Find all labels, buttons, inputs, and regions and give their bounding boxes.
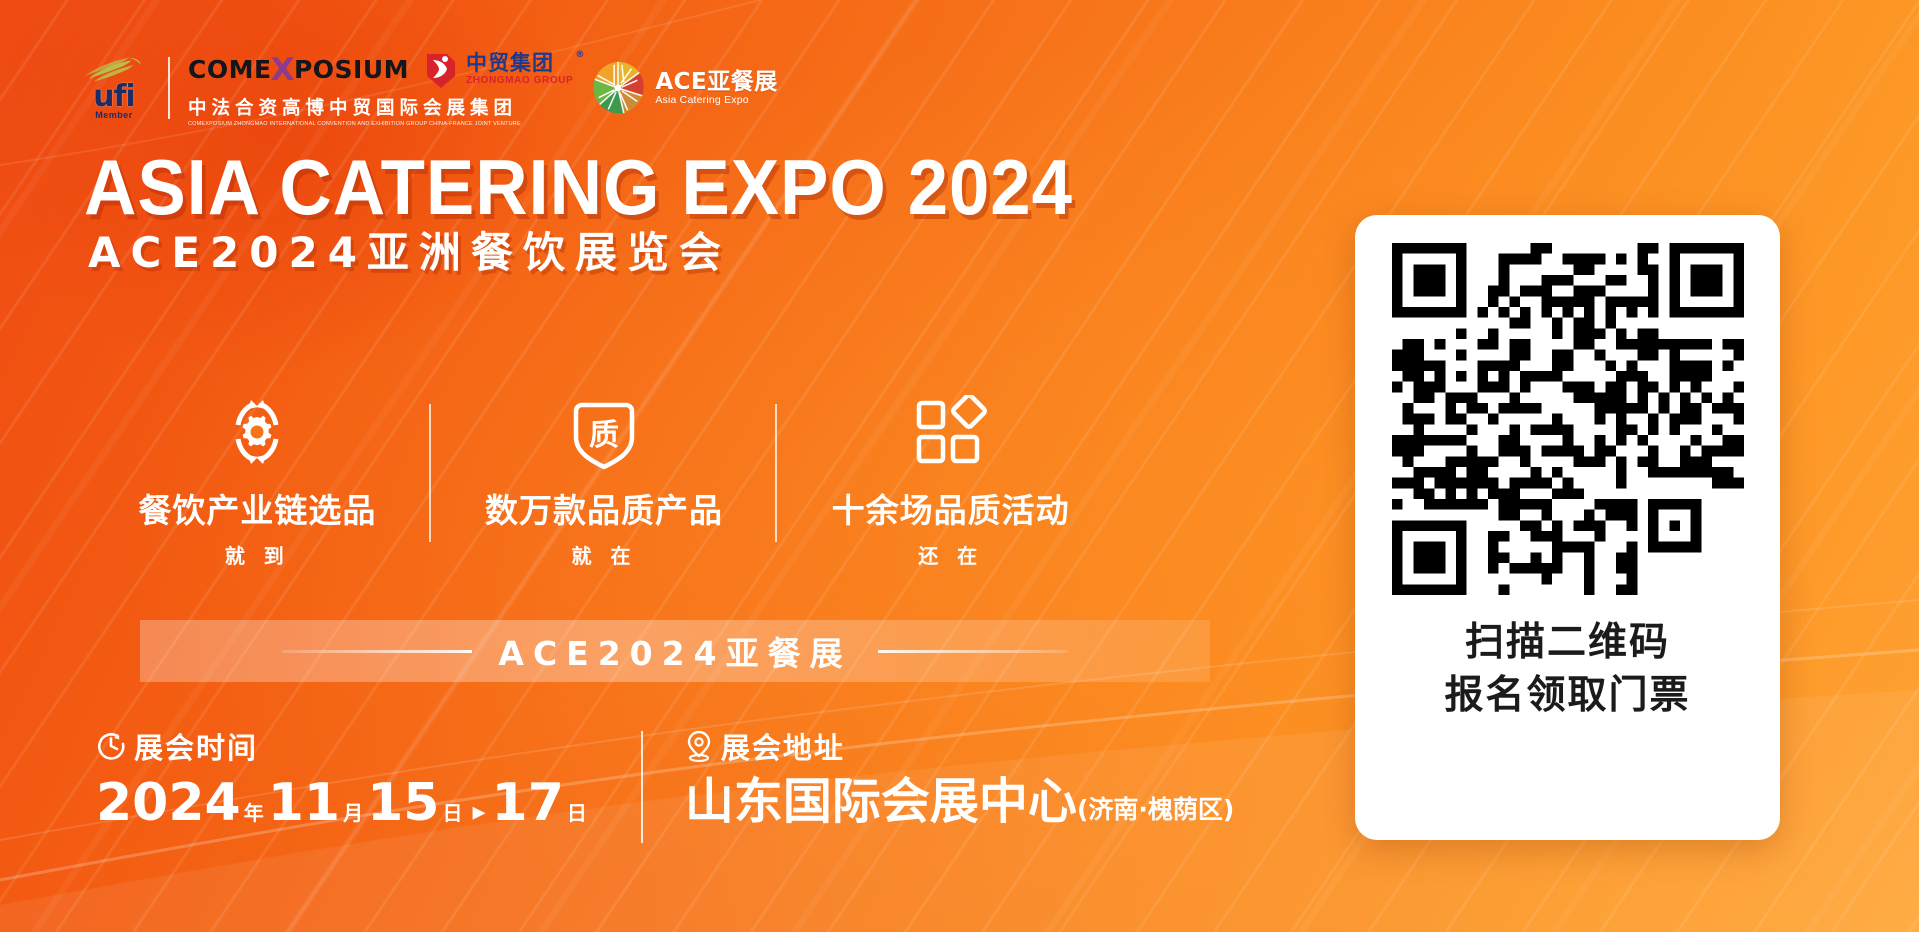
comexposium-zhongmao-logo: COMEXPOSIUM 中贸集团® ZHONGMAO GROUP 中法合资高博中… <box>188 50 573 127</box>
date-day-start: 15 <box>367 777 439 829</box>
ace-logo-sub: Asia Catering Expo <box>655 95 777 106</box>
tagline-band: ACE2024亚餐展 <box>140 620 1210 682</box>
event-venue-head: 展会地址 <box>685 725 1234 767</box>
feature-sub-1: 就 到 <box>225 540 290 569</box>
date-month-unit: 月 <box>343 797 363 826</box>
feature-sub-2: 就 在 <box>572 540 637 569</box>
qr-registration-card[interactable]: 扫描二维码 报名领取门票 <box>1355 215 1780 840</box>
event-date-value: 2024 年 11 月 15 日 ▸ 17 日 <box>96 777 591 829</box>
date-month: 11 <box>268 777 340 829</box>
zhongmao-mark-icon <box>421 50 461 90</box>
date-year-unit: 年 <box>244 797 264 826</box>
qr-caption-line1: 扫描二维码 <box>1444 617 1690 670</box>
comexposium-x-glyph: X <box>271 52 295 88</box>
comexposium-wordmark: COMEXPOSIUM <box>188 52 409 88</box>
feature-sub-3: 还 在 <box>918 540 983 569</box>
feature-icon-wrap-1 <box>218 396 296 468</box>
feature-title-3: 十余场品质活动 <box>832 484 1070 532</box>
ufi-member-label: Member <box>95 110 133 120</box>
promo-banner: ufi Member COMEXPOSIUM 中贸集团® ZHONGMAO <box>0 0 1919 932</box>
partner-logo-bar: ufi Member COMEXPOSIUM 中贸集团® ZHONGMAO <box>78 45 778 131</box>
comexposium-subtitle-en: COMEXPOSIUM ZHONGMAO INTERNATIONAL CONVE… <box>188 121 573 127</box>
venue-name: 山东国际会展中心 <box>685 777 1077 826</box>
qr-caption: 扫描二维码 报名领取门票 <box>1444 617 1690 722</box>
feature-title-1: 餐饮产业链选品 <box>138 484 376 532</box>
date-day-start-unit: 日 <box>442 797 462 826</box>
date-day-end: 17 <box>492 777 564 829</box>
feature-title-2: 数万款品质产品 <box>485 484 723 532</box>
feature-icon-wrap-2: 质 <box>568 396 640 468</box>
event-info: 展会时间 2024 年 11 月 15 日 ▸ 17 日 <box>96 725 1234 843</box>
qr-code-icon[interactable] <box>1392 243 1744 595</box>
location-pin-icon <box>685 730 713 762</box>
comexposium-subtitle-cn: 中法合资高博中贸国际会展集团 <box>188 98 517 119</box>
comexposium-word-left: COME <box>188 55 272 84</box>
date-day-end-unit: 日 <box>567 797 587 826</box>
band-line-right <box>878 650 1068 653</box>
ace-expo-logo: ACE亚餐展 Asia Catering Expo <box>589 59 777 117</box>
venue-district: (济南·槐荫区) <box>1077 790 1234 826</box>
zhongmao-cn-name: 中贸集团® <box>466 53 573 74</box>
ace-logo-main: ACE亚餐展 <box>655 70 777 94</box>
band-text: ACE2024亚餐展 <box>498 627 851 675</box>
info-divider <box>641 731 643 843</box>
headline-title-cn: ACE2024亚洲餐饮展览会 <box>88 232 731 274</box>
event-venue-value: 山东国际会展中心 (济南·槐荫区) <box>685 777 1234 826</box>
logo-divider-1 <box>168 57 170 119</box>
date-range-arrow: ▸ <box>472 797 485 827</box>
band-line-left <box>282 650 472 653</box>
feature-item-quality-products: 质 数万款品质产品 就 在 <box>431 396 778 569</box>
registered-mark: ® <box>575 51 585 60</box>
event-venue-label: 展会地址 <box>721 725 845 767</box>
ace-pinwheel-icon <box>589 59 647 117</box>
date-year: 2024 <box>96 777 241 829</box>
zhongmao-en-name: ZHONGMAO GROUP <box>466 76 573 86</box>
clock-icon <box>96 731 126 761</box>
event-venue-block: 展会地址 山东国际会展中心 (济南·槐荫区) <box>685 725 1234 826</box>
feature-icon-wrap-3 <box>911 396 991 468</box>
ufi-logo: ufi Member <box>78 57 150 120</box>
event-date-label: 展会时间 <box>134 725 258 767</box>
event-date-block: 展会时间 2024 年 11 月 15 日 ▸ 17 日 <box>96 725 591 829</box>
qr-caption-line2: 报名领取门票 <box>1444 670 1690 723</box>
gear-cycle-icon <box>218 393 296 471</box>
quality-shield-icon: 质 <box>568 393 640 471</box>
feature-item-events: 十余场品质活动 还 在 <box>777 396 1124 569</box>
diamond-squares-icon <box>911 395 991 469</box>
event-date-head: 展会时间 <box>96 725 591 767</box>
comexposium-subtitle: 中法合资高博中贸国际会展集团 COMEXPOSIUM ZHONGMAO INTE… <box>188 94 573 127</box>
zhongmao-logo: 中贸集团® ZHONGMAO GROUP <box>421 50 573 90</box>
feature-list: 餐饮产业链选品 就 到 质 数万款品质产品 就 在 <box>84 396 1124 569</box>
ufi-wordmark: ufi <box>93 83 135 110</box>
svg-text:质: 质 <box>589 418 619 453</box>
feature-item-supply-chain: 餐饮产业链选品 就 到 <box>84 396 431 569</box>
headline-title-en: ASIA CATERING EXPO 2024 <box>84 148 1073 226</box>
comexposium-word-right: POSIUM <box>294 55 409 84</box>
